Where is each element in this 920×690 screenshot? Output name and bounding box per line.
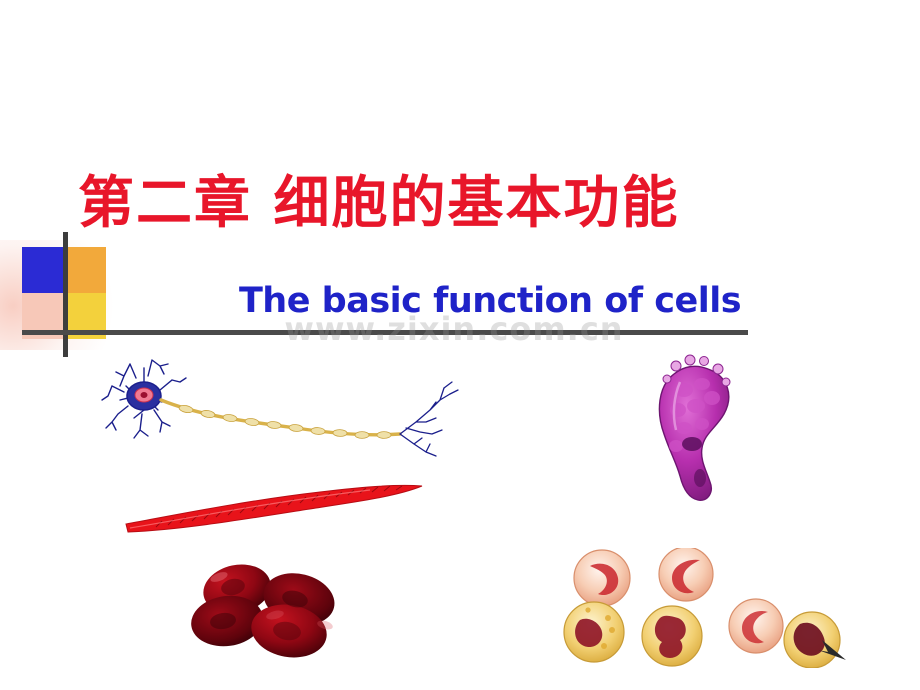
decorative-horizontal-rule	[22, 330, 748, 335]
blood-smear-cells-figure	[560, 548, 850, 668]
decorative-block-orange	[64, 247, 106, 293]
red-blood-cells-dark-figure	[175, 555, 375, 665]
smooth-muscle-fiber-figure	[120, 480, 430, 540]
decorative-vertical-rule	[63, 232, 68, 357]
decorative-block-blue	[22, 247, 64, 293]
slide-title-chinese: 第二章 细胞的基本功能	[78, 158, 858, 239]
slide-canvas: 第二章 细胞的基本功能 The basic function of cells …	[0, 0, 920, 690]
purple-secretory-cell-figure	[640, 352, 760, 512]
neuron-diagram-figure	[100, 352, 460, 462]
slide-title-english: The basic function of cells	[180, 281, 800, 321]
